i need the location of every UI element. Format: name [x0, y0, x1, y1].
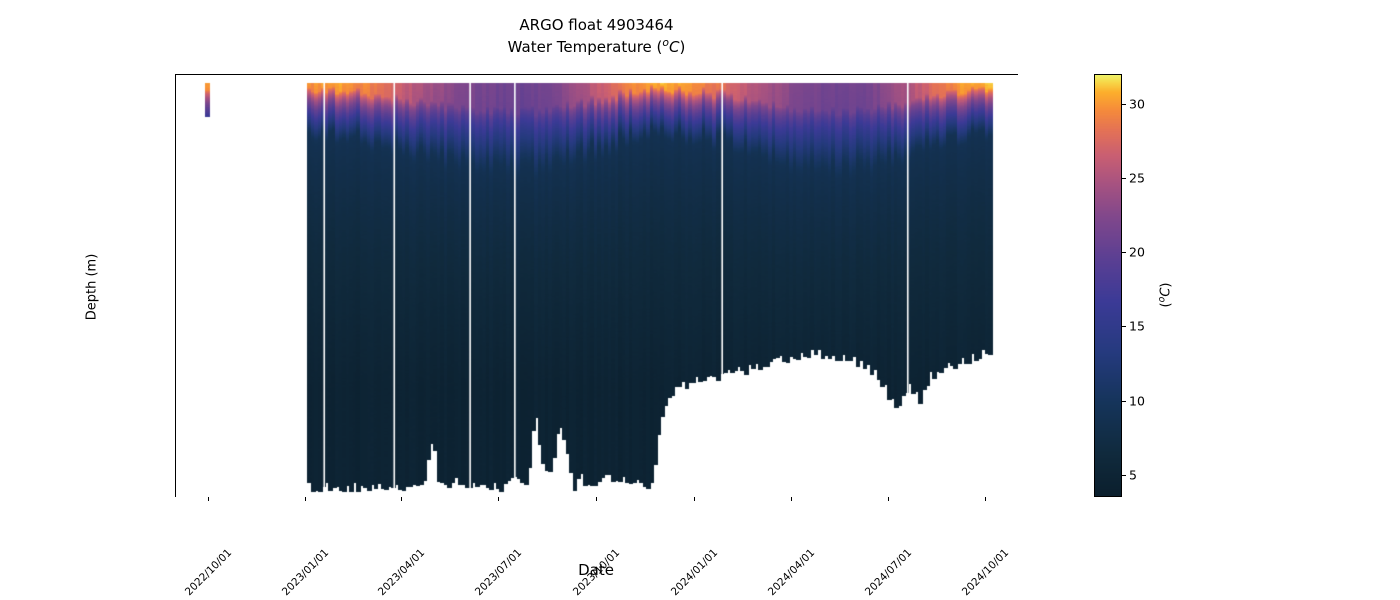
x-tick-label: 2023/04/01 — [376, 547, 427, 598]
x-tick-mark — [791, 497, 792, 501]
x-tick-mark — [596, 497, 597, 501]
y-axis-label: Depth (m) — [85, 254, 100, 321]
plot-axes — [175, 74, 1018, 497]
x-tick-mark — [498, 497, 499, 501]
colorbar-label: (oC) — [1156, 283, 1173, 308]
chart-subtitle: Water Temperature (oC) — [175, 36, 1018, 58]
x-tick-label: 2023/07/01 — [473, 547, 524, 598]
x-tick-label: 2023/01/01 — [280, 547, 331, 598]
x-tick-label: 2024/01/01 — [669, 547, 720, 598]
colorbar-tick-label: 5 — [1129, 467, 1137, 482]
colorbar-tick-mark — [1122, 252, 1126, 253]
x-tick-mark — [888, 497, 889, 501]
x-tick-label: 2024/04/01 — [766, 547, 817, 598]
colorbar-tick-label: 15 — [1129, 319, 1145, 334]
x-tick-label: 2022/10/01 — [183, 547, 234, 598]
x-tick-mark — [305, 497, 306, 501]
x-axis-label: Date — [578, 561, 614, 579]
x-tick-label: 2024/07/01 — [863, 547, 914, 598]
colorbar-tick-mark — [1122, 475, 1126, 476]
colorbar-tick-label: 20 — [1129, 245, 1145, 260]
x-tick-mark — [401, 497, 402, 501]
x-tick-mark — [694, 497, 695, 501]
colorbar-gradient — [1095, 75, 1121, 496]
x-tick-label: 2024/10/01 — [960, 547, 1011, 598]
colorbar-tick-label: 25 — [1129, 170, 1145, 185]
colorbar-tick-mark — [1122, 104, 1126, 105]
chart-figure: ARGO float 4903464 Water Temperature (oC… — [0, 0, 1400, 600]
chart-title-block: ARGO float 4903464 Water Temperature (oC… — [175, 16, 1018, 58]
x-tick-mark — [208, 497, 209, 501]
colorbar-tick-mark — [1122, 178, 1126, 179]
x-tick-mark — [985, 497, 986, 501]
colorbar-tick-mark — [1122, 401, 1126, 402]
colorbar-tick-label: 30 — [1129, 96, 1145, 111]
chart-title: ARGO float 4903464 — [175, 16, 1018, 36]
temperature-heatmap — [176, 75, 1019, 498]
colorbar-tick-label: 10 — [1129, 393, 1145, 408]
colorbar — [1094, 74, 1122, 497]
colorbar-tick-mark — [1122, 326, 1126, 327]
